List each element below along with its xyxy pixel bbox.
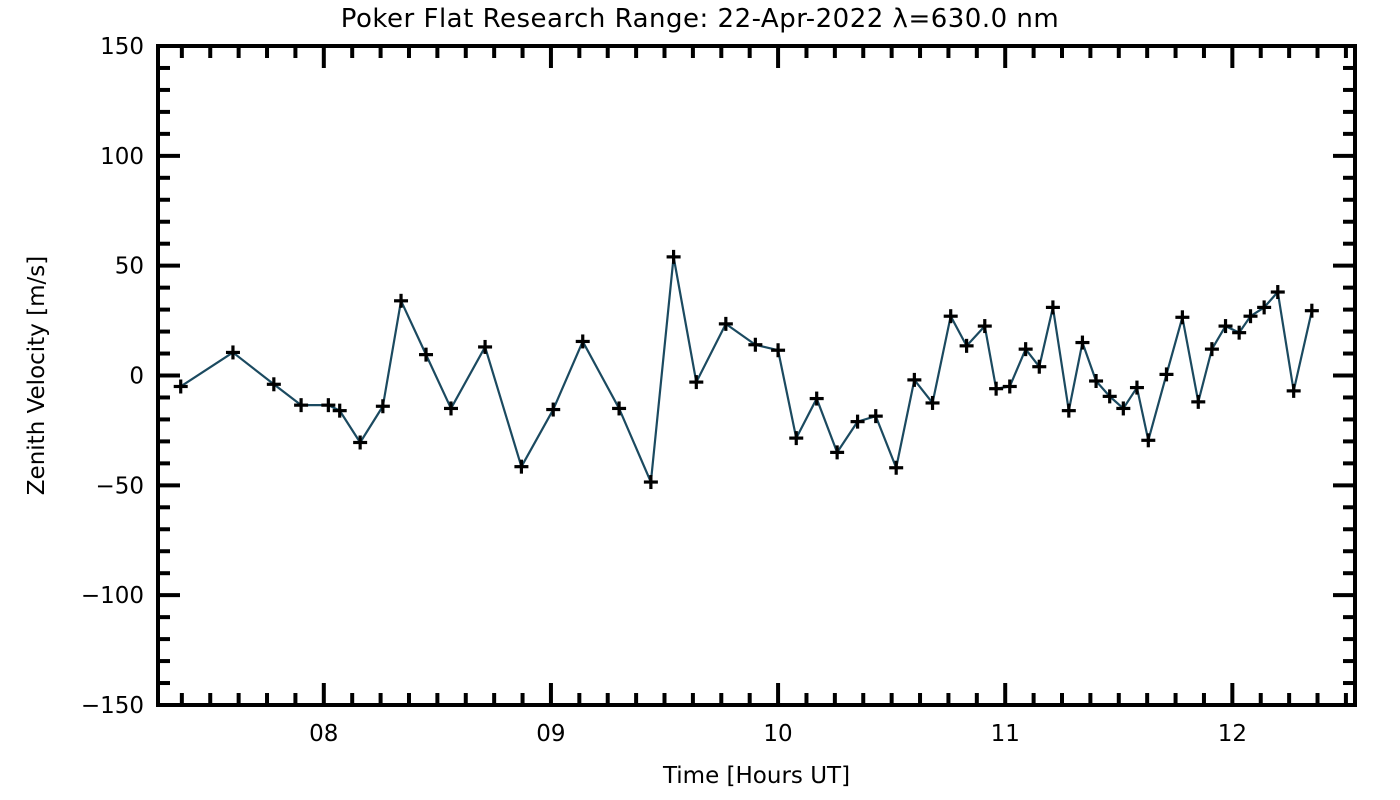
data-point-marker xyxy=(1046,300,1060,314)
data-point-marker xyxy=(771,343,785,357)
y-axis-title: Zenith Velocity [m/s] xyxy=(24,256,50,495)
data-point-marker xyxy=(1244,309,1258,323)
data-point-marker xyxy=(989,382,1003,396)
y-axis-tick-label: 100 xyxy=(100,144,144,170)
x-axis-tick-labels: 0809101112 xyxy=(309,721,1247,747)
x-axis-tick-label: 10 xyxy=(763,721,792,747)
data-point-marker xyxy=(748,338,762,352)
data-point-marker xyxy=(478,340,492,354)
data-point-marker xyxy=(689,375,703,389)
data-point-marker xyxy=(1062,404,1076,418)
x-axis-tick-label: 09 xyxy=(536,721,565,747)
data-point-marker xyxy=(1003,379,1017,393)
data-point-marker xyxy=(944,309,958,323)
data-point-marker xyxy=(810,392,824,406)
data-point-marker xyxy=(444,401,458,415)
y-axis-tick-label: 50 xyxy=(115,254,144,280)
axis-frame xyxy=(158,46,1355,705)
y-axis-tick-label: −100 xyxy=(81,583,144,609)
data-point-marker xyxy=(719,317,733,331)
data-series-line xyxy=(181,257,1312,482)
data-point-marker xyxy=(1205,342,1219,356)
data-point-marker xyxy=(851,415,865,429)
data-point-marker xyxy=(174,379,188,393)
data-point-marker xyxy=(644,475,658,489)
y-axis-tick-label: −150 xyxy=(81,693,144,719)
data-point-marker xyxy=(1305,304,1319,318)
data-point-marker xyxy=(1075,336,1089,350)
data-point-marker xyxy=(1219,319,1233,333)
data-point-marker xyxy=(612,401,626,415)
y-axis-tick-labels: −150−100−50050100150 xyxy=(81,34,144,719)
data-point-marker xyxy=(869,409,883,423)
line-chart-plot: 0809101112 −150−100−50050100150 Time [Ho… xyxy=(0,0,1400,800)
data-point-marker xyxy=(1175,310,1189,324)
data-point-marker xyxy=(514,460,528,474)
y-axis-tick-label: −50 xyxy=(95,473,144,499)
y-axis-major-ticks xyxy=(158,46,1355,705)
data-point-marker xyxy=(1130,381,1144,395)
data-point-marker xyxy=(1287,384,1301,398)
data-point-marker xyxy=(830,445,844,459)
data-point-marker xyxy=(667,250,681,264)
data-series-markers xyxy=(174,250,1319,489)
figure-canvas: Poker Flat Research Range: 22-Apr-2022 λ… xyxy=(0,0,1400,800)
data-point-marker xyxy=(1232,326,1246,340)
data-point-marker xyxy=(419,348,433,362)
x-axis-title: Time [Hours UT] xyxy=(662,763,850,789)
x-axis-tick-label: 08 xyxy=(309,721,338,747)
data-point-marker xyxy=(353,435,367,449)
data-point-marker xyxy=(1191,395,1205,409)
y-axis-tick-label: 0 xyxy=(129,364,144,390)
data-point-marker xyxy=(1141,433,1155,447)
data-point-marker xyxy=(576,334,590,348)
data-point-marker xyxy=(889,461,903,475)
data-point-marker xyxy=(376,399,390,413)
y-axis-minor-ticks xyxy=(158,68,1355,683)
data-point-marker xyxy=(546,403,560,417)
data-point-marker xyxy=(394,294,408,308)
data-point-marker xyxy=(789,431,803,445)
x-axis-tick-label: 12 xyxy=(1218,721,1247,747)
x-axis-tick-label: 11 xyxy=(991,721,1020,747)
y-axis-tick-label: 150 xyxy=(100,34,144,60)
data-point-marker xyxy=(1159,367,1173,381)
